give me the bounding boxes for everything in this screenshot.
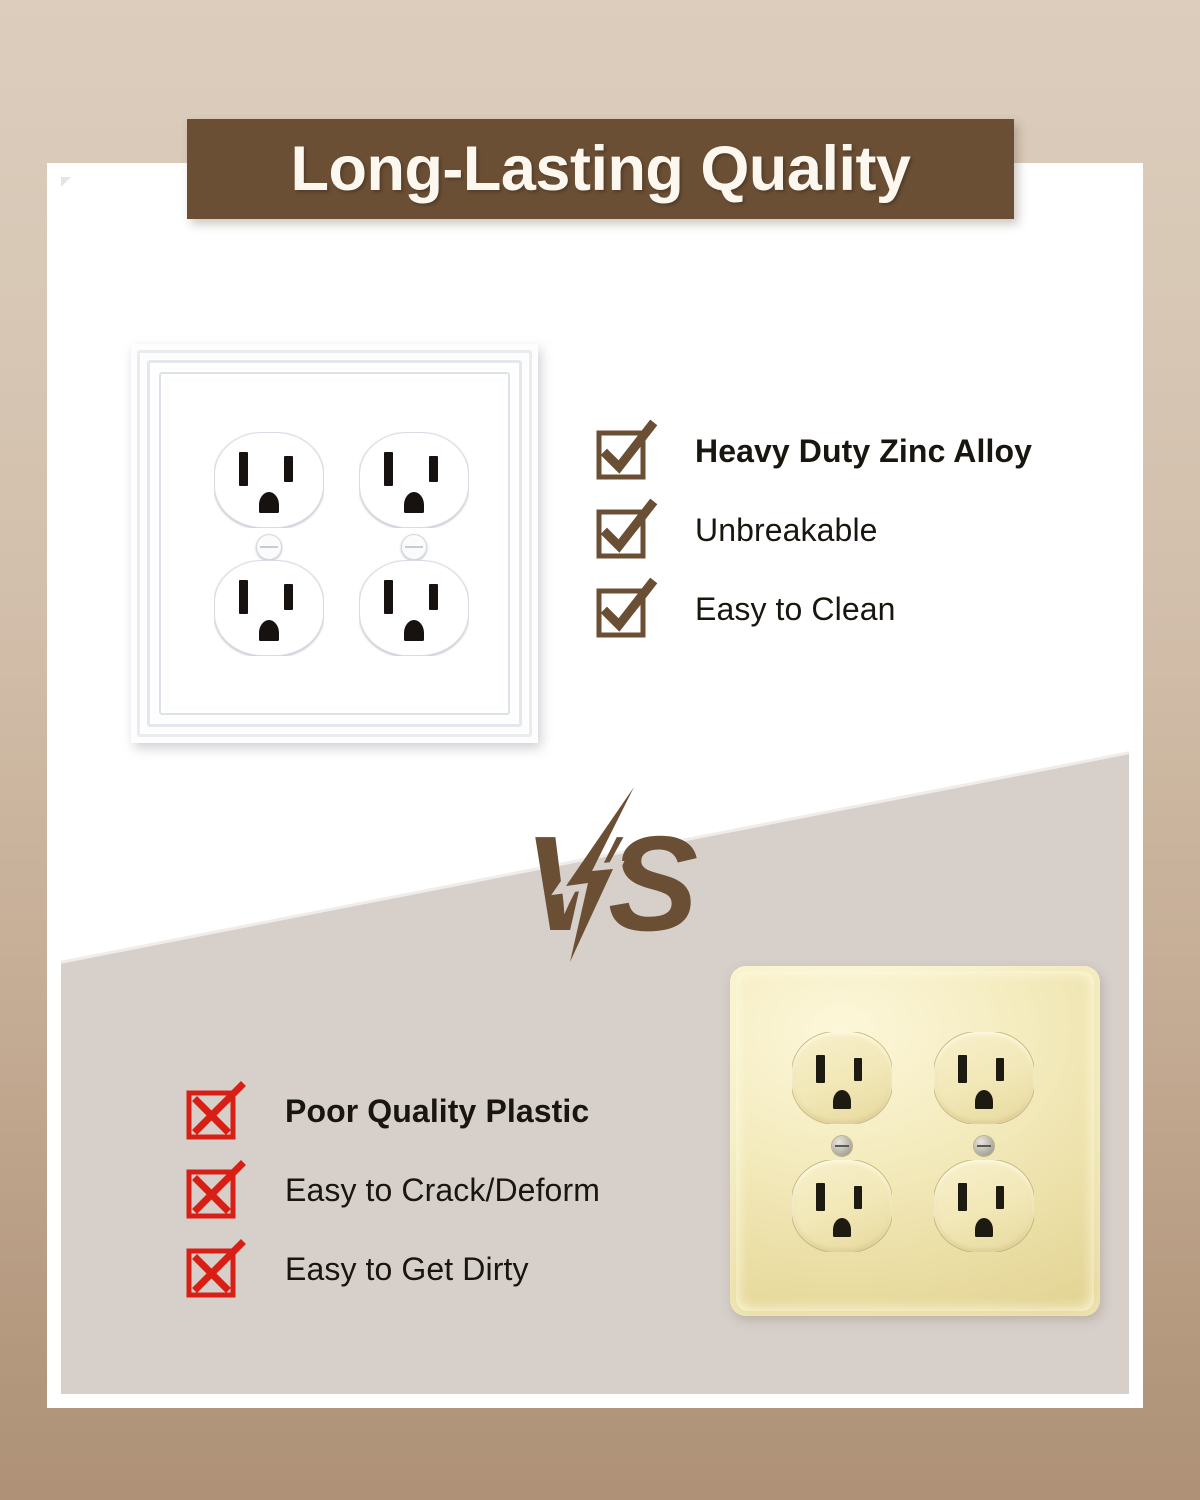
list-item-label: Easy to Crack/Deform (285, 1172, 600, 1209)
headline-banner: Long-Lasting Quality (187, 119, 1014, 219)
ground-hole (259, 620, 279, 641)
list-item: Unbreakable (596, 491, 1096, 570)
check-box-icon (596, 424, 652, 480)
outlet-receptacle (359, 560, 469, 656)
neutral-slot (816, 1183, 825, 1211)
ground-hole (833, 1090, 851, 1109)
outlet-receptacle (214, 560, 324, 656)
plate-body (131, 344, 538, 743)
ground-hole (259, 492, 279, 513)
hot-slot (996, 1186, 1004, 1209)
comparison-card: Heavy Duty Zinc Alloy Unbreakable (47, 163, 1143, 1408)
neutral-slot (958, 1183, 967, 1211)
cons-feature-list: Poor Quality Plastic Easy to Crack/Defor… (186, 1072, 686, 1309)
cross-box-icon (186, 1242, 242, 1298)
neutral-slot (816, 1055, 825, 1083)
cross-box-icon (186, 1163, 242, 1219)
pros-feature-list: Heavy Duty Zinc Alloy Unbreakable (596, 412, 1096, 649)
list-item: Easy to Clean (596, 570, 1096, 649)
neutral-slot (239, 452, 248, 486)
ground-hole (975, 1090, 993, 1109)
ground-hole (404, 492, 424, 513)
hot-slot (284, 584, 293, 610)
list-item-label: Poor Quality Plastic (285, 1093, 589, 1130)
outlet-receptacle (359, 432, 469, 528)
mounting-screw (974, 1136, 994, 1156)
outlet-receptacle (792, 1032, 892, 1124)
hot-slot (284, 456, 293, 482)
neutral-slot (384, 452, 393, 486)
ground-hole (833, 1218, 851, 1237)
list-item: Easy to Crack/Deform (186, 1151, 686, 1230)
outlet-receptacle (934, 1032, 1034, 1124)
neutral-slot (384, 580, 393, 614)
mounting-screw (256, 534, 282, 560)
list-item: Poor Quality Plastic (186, 1072, 686, 1151)
mounting-screw (401, 534, 427, 560)
infographic-page: Heavy Duty Zinc Alloy Unbreakable (0, 0, 1200, 1500)
mounting-screw (832, 1136, 852, 1156)
list-item-label: Easy to Clean (695, 591, 896, 628)
cross-box-icon (186, 1084, 242, 1140)
outlet-receptacle (934, 1160, 1034, 1252)
hot-slot (854, 1058, 862, 1081)
ivory-outlet-plate (730, 966, 1100, 1316)
list-item: Easy to Get Dirty (186, 1230, 686, 1309)
white-outlet-plate (131, 344, 538, 743)
hot-slot (854, 1186, 862, 1209)
plate-face (169, 382, 500, 705)
corner-fold-decoration (59, 175, 73, 189)
ground-hole (404, 620, 424, 641)
list-item: Heavy Duty Zinc Alloy (596, 412, 1096, 491)
list-item-label: Easy to Get Dirty (285, 1251, 529, 1288)
ground-hole (975, 1218, 993, 1237)
hot-slot (996, 1058, 1004, 1081)
page-title: Long-Lasting Quality (291, 138, 911, 201)
hot-slot (429, 456, 438, 482)
outlet-receptacle (214, 432, 324, 528)
plate-body (730, 966, 1100, 1316)
neutral-slot (239, 580, 248, 614)
vs-divider-badge: VS (518, 787, 698, 962)
check-box-icon (596, 503, 652, 559)
list-item-label: Unbreakable (695, 512, 878, 549)
outlet-receptacle (792, 1160, 892, 1252)
list-item-label: Heavy Duty Zinc Alloy (695, 433, 1032, 470)
neutral-slot (958, 1055, 967, 1083)
check-box-icon (596, 582, 652, 638)
hot-slot (429, 584, 438, 610)
